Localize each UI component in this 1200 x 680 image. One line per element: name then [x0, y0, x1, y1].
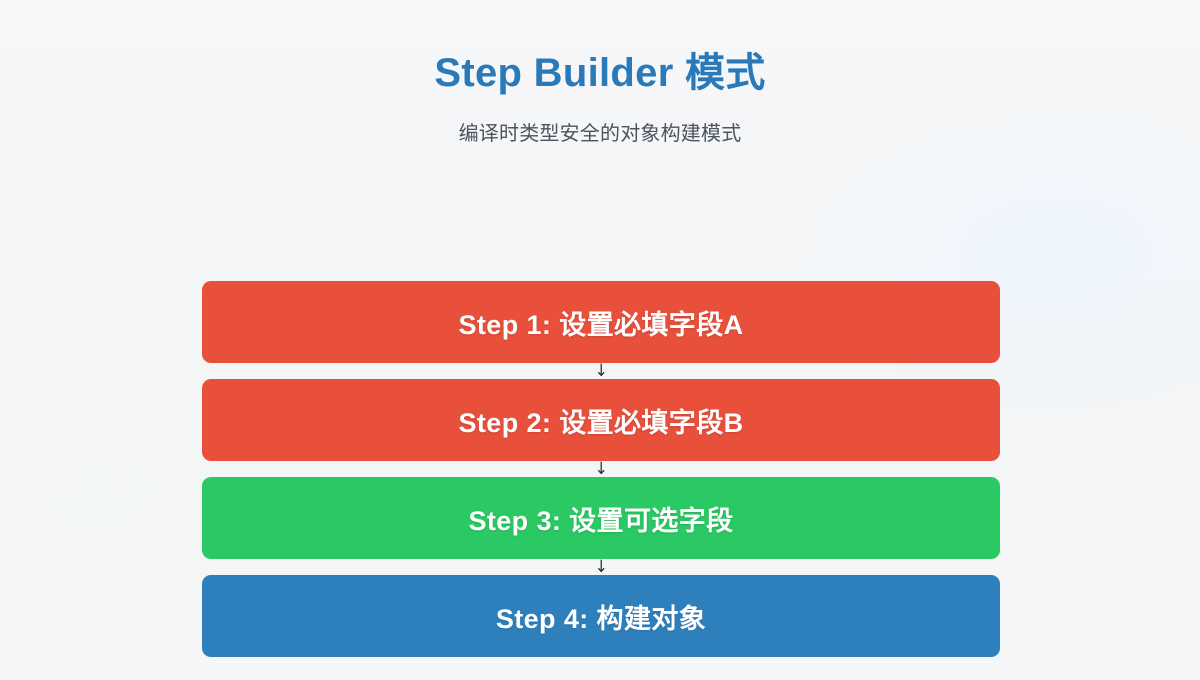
- slide-canvas: Step Builder 模式 编译时类型安全的对象构建模式 Step 1: 设…: [0, 0, 1200, 680]
- step-box-2: Step 2: 设置必填字段B: [202, 379, 1000, 461]
- arrow-down-icon: ↓: [594, 461, 607, 477]
- step-flow-diagram: Step 1: 设置必填字段A ↓ Step 2: 设置必填字段B ↓ Step…: [202, 281, 1000, 657]
- arrow-down-icon: ↓: [594, 363, 607, 379]
- step-label-1: Step 1: 设置必填字段A: [458, 303, 743, 342]
- step-box-3: Step 3: 设置可选字段: [202, 477, 1000, 559]
- step-box-4: Step 4: 构建对象: [202, 575, 1000, 657]
- step-label-3: Step 3: 设置可选字段: [468, 499, 733, 538]
- flow-connector-3: ↓: [202, 559, 1000, 575]
- page-subtitle: 编译时类型安全的对象构建模式: [0, 120, 1200, 148]
- flow-connector-1: ↓: [202, 363, 1000, 379]
- arrow-down-icon: ↓: [594, 559, 607, 575]
- page-title: Step Builder 模式: [0, 48, 1200, 98]
- flow-connector-2: ↓: [202, 461, 1000, 477]
- step-label-2: Step 2: 设置必填字段B: [458, 401, 743, 440]
- header: Step Builder 模式 编译时类型安全的对象构建模式: [0, 0, 1200, 148]
- step-label-4: Step 4: 构建对象: [496, 597, 706, 636]
- step-box-1: Step 1: 设置必填字段A: [202, 281, 1000, 363]
